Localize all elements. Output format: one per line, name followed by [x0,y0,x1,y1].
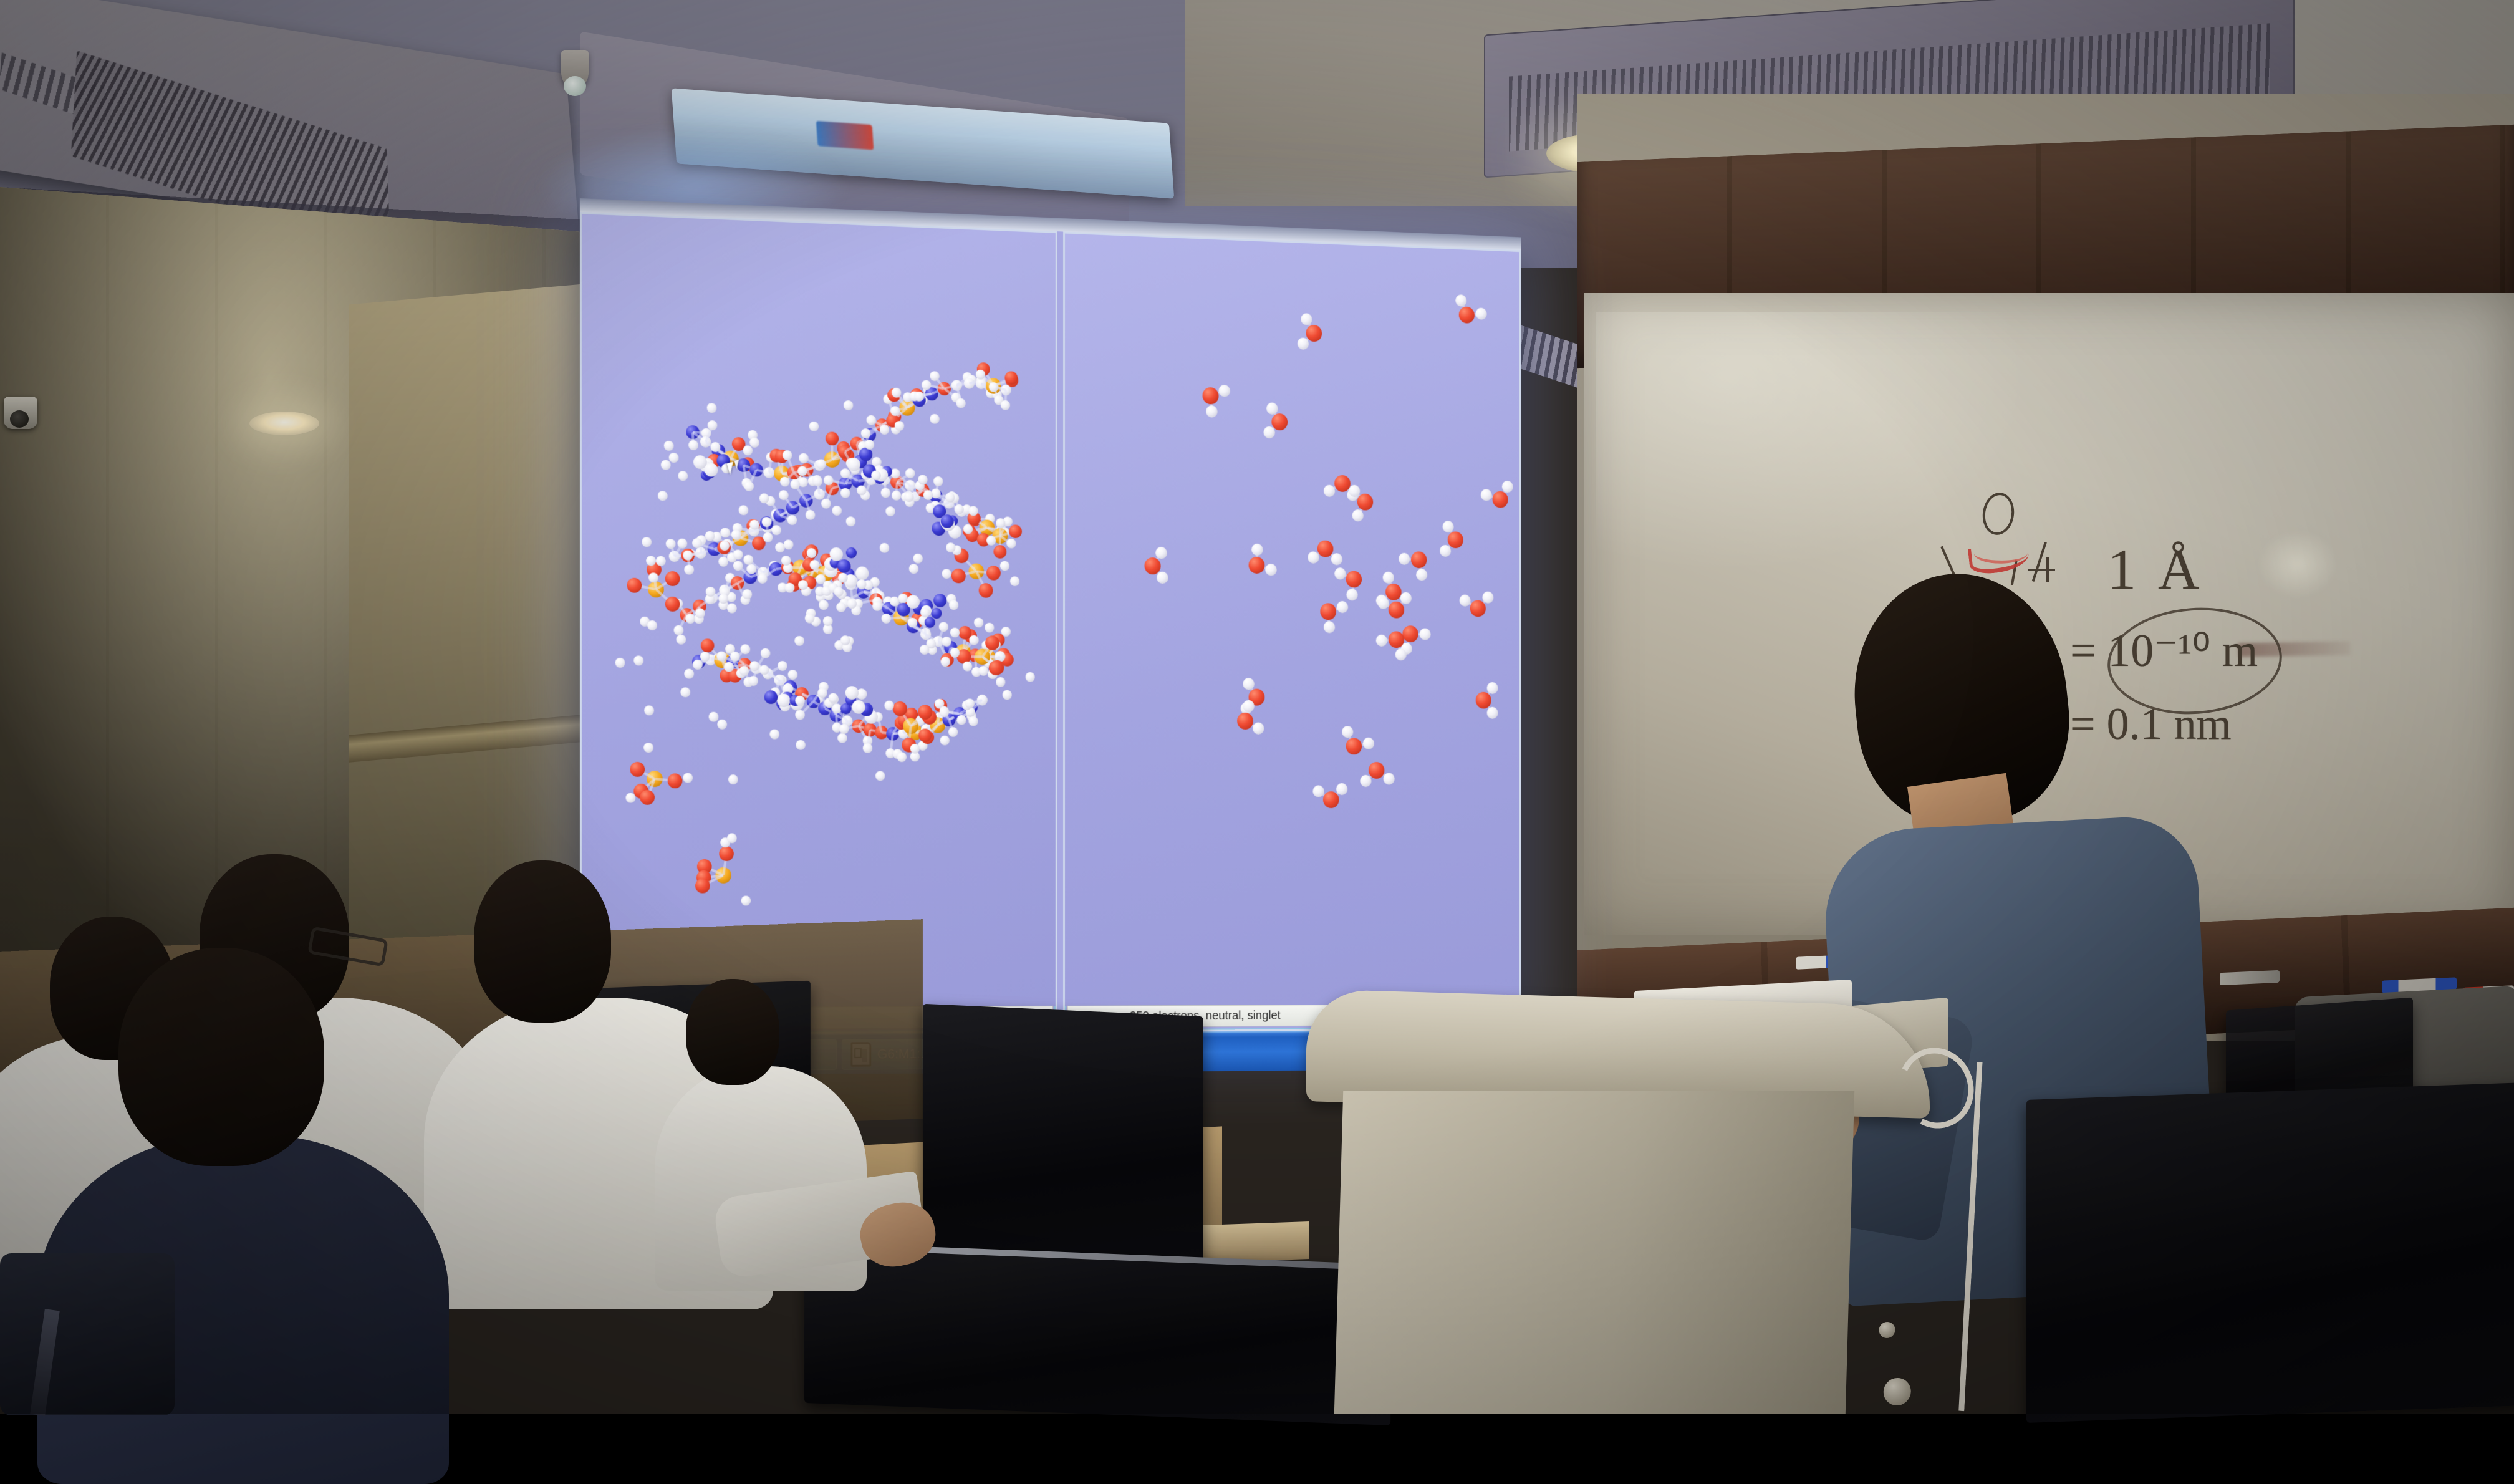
atom-H[interactable] [656,556,666,566]
atom-H[interactable] [741,644,751,654]
atom-H[interactable] [763,532,773,542]
atom-H[interactable] [795,696,805,706]
atom-H[interactable] [866,415,875,425]
atom-H[interactable] [1331,553,1342,566]
atom-H[interactable] [746,564,756,574]
atom-H[interactable] [847,457,860,471]
atom-H[interactable] [933,476,943,486]
atom-H[interactable] [1001,627,1011,637]
atom-H[interactable] [1263,426,1274,439]
monitor-2 [804,1242,1390,1425]
atom-H[interactable] [733,561,743,571]
atom-H[interactable] [784,540,794,550]
atom-H[interactable] [913,554,922,564]
atom-H[interactable] [965,698,975,708]
atom-H[interactable] [918,475,927,484]
atom-H[interactable] [817,688,827,698]
atom-H[interactable] [845,686,859,700]
atom-O[interactable] [695,878,710,893]
student-5-head [686,979,779,1085]
atom-H[interactable] [986,536,996,546]
atom-H[interactable] [807,548,817,558]
atom-H[interactable] [658,491,668,501]
atom-H[interactable] [787,515,797,525]
atom-O[interactable] [1271,413,1288,431]
atom-H[interactable] [743,445,753,455]
atom-H[interactable] [1308,551,1319,564]
whiteboard-equation-2: = 10⁻¹⁰ m [2070,624,2258,678]
atom-H[interactable] [779,490,789,500]
atom-O[interactable] [1470,600,1486,617]
atom-H[interactable] [685,614,695,624]
atom-H[interactable] [1383,571,1394,583]
podium [1306,998,1930,1414]
atom-H[interactable] [968,716,978,726]
atom-H[interactable] [946,542,955,552]
atom-H[interactable] [1265,564,1276,576]
atom-H[interactable] [955,504,964,514]
atom-H[interactable] [1399,553,1410,565]
atom-O[interactable] [1009,524,1022,538]
atom-H[interactable] [1475,307,1486,320]
atom-H[interactable] [727,604,737,614]
stick-figure-bar [2028,569,2055,571]
atom-H[interactable] [666,539,676,549]
atom-H[interactable] [856,566,869,580]
atom-H[interactable] [706,587,716,597]
atom-H[interactable] [741,896,751,906]
atom-H[interactable] [1336,783,1347,795]
stick-figure-bar-2 [2046,557,2049,582]
atom-H[interactable] [884,701,893,711]
atom-O[interactable] [1389,631,1404,648]
atom-H[interactable] [1395,648,1407,660]
atom-H[interactable] [744,481,754,491]
atom-H[interactable] [1361,775,1372,787]
atom-H[interactable] [974,618,983,628]
atom-H[interactable] [865,440,874,450]
atom-H[interactable] [678,539,688,549]
atom-H[interactable] [661,460,671,470]
atom-O[interactable] [1476,692,1491,709]
atom-H[interactable] [1420,629,1431,640]
atom-O[interactable] [1369,762,1384,779]
atom-H[interactable] [930,371,939,381]
atom-H[interactable] [799,453,809,463]
atom-H[interactable] [996,677,1005,687]
atom-O[interactable] [1448,531,1463,548]
atom-O[interactable] [668,773,683,788]
atom-O[interactable] [989,660,1003,675]
atom-H[interactable] [857,485,866,495]
atom-H[interactable] [1006,539,1016,549]
atom-H[interactable] [708,420,718,430]
atom-H[interactable] [838,572,847,582]
atom-H[interactable] [930,414,939,424]
atom-N[interactable] [846,547,857,559]
atom-H[interactable] [1487,706,1498,718]
atom-O[interactable] [1317,540,1334,557]
atom-O[interactable] [985,635,999,650]
atom-O[interactable] [627,577,642,592]
atom-H[interactable] [1206,405,1218,418]
sprinkler-head [561,50,589,87]
atom-H[interactable] [778,661,787,671]
atom-H[interactable] [705,463,718,477]
atom-H[interactable] [985,622,994,632]
atom-H[interactable] [733,549,743,559]
student-3-head [118,948,324,1166]
gaussview-window-right[interactable]: 75 atoms, 250 electrons, neutral, single… [1063,231,1521,1032]
atom-H[interactable] [758,574,768,584]
atom-O[interactable] [1320,603,1336,620]
atom-H[interactable] [738,505,748,515]
atom-H[interactable] [920,645,930,655]
atom-H[interactable] [1346,589,1357,600]
atom-H[interactable] [970,635,979,645]
atom-O[interactable] [719,847,734,862]
atom-H[interactable] [685,668,695,678]
monitor-4 [2026,1082,2514,1423]
atom-H[interactable] [1460,594,1471,606]
atom-H[interactable] [1219,385,1231,397]
atom-H[interactable] [1384,773,1395,784]
atom-H[interactable] [822,616,832,626]
atom-H[interactable] [626,793,636,803]
atom-H[interactable] [892,490,901,500]
atom-H[interactable] [1442,521,1453,532]
atom-H[interactable] [795,710,805,720]
atom-O[interactable] [1493,491,1508,508]
atom-H[interactable] [890,406,900,416]
atom-H[interactable] [905,468,915,478]
atom-H[interactable] [809,422,819,431]
atom-H[interactable] [1440,544,1451,556]
atom-H[interactable] [647,620,657,630]
atom-N[interactable] [859,448,872,461]
atom-O[interactable] [1385,584,1401,600]
atom-H[interactable] [907,595,920,609]
atom-H[interactable] [830,547,843,561]
atom-H[interactable] [863,743,872,753]
atom-H[interactable] [688,440,698,450]
atom-H[interactable] [1155,547,1167,559]
atom-H[interactable] [939,622,948,632]
atom-H[interactable] [743,589,753,599]
atom-H[interactable] [1417,569,1428,581]
atom-O[interactable] [1334,475,1351,492]
atom-H[interactable] [695,608,705,618]
atom-H[interactable] [1003,690,1012,700]
atom-H[interactable] [731,530,741,540]
atom-H[interactable] [783,450,792,460]
atom-H[interactable] [840,488,850,498]
atom-H[interactable] [749,438,759,448]
atom-H[interactable] [847,599,856,609]
atom-H[interactable] [920,607,930,617]
atom-O[interactable] [1306,325,1322,342]
screen-surface: nd Inquire Select Atom 1 75 atoms, 250 e… [580,212,1521,1035]
atom-H[interactable] [956,715,966,725]
atom-H[interactable] [1157,572,1168,584]
atom-H[interactable] [759,493,769,503]
atom-H[interactable] [772,525,782,535]
atom-H[interactable] [1298,337,1309,350]
atom-H[interactable] [805,613,815,623]
atom-H[interactable] [989,382,998,392]
atom-H[interactable] [910,743,920,753]
atom-H[interactable] [839,724,849,734]
atom-H[interactable] [692,538,702,548]
atom-O[interactable] [701,638,715,652]
atom-H[interactable] [720,528,730,537]
monitor-1 [923,1004,1203,1284]
atom-H[interactable] [718,594,728,604]
atom-H[interactable] [1342,726,1353,738]
atom-H[interactable] [845,516,855,526]
atom-H[interactable] [1025,672,1034,682]
atom-O[interactable] [986,566,1001,581]
atom-H[interactable] [1337,601,1348,613]
atom-H[interactable] [939,707,948,717]
atom-O[interactable] [1203,387,1219,405]
atom-H[interactable] [950,627,959,637]
lecture-hall-scene: 1 Å = 10⁻¹⁰ m = 0.1 nm nd Inquire Select… [0,0,2514,1414]
atom-H[interactable] [872,470,881,480]
atom-H[interactable] [693,660,703,670]
atom-H[interactable] [813,476,823,486]
atom-H[interactable] [897,752,906,762]
projection-screen: nd Inquire Select Atom 1 75 atoms, 250 e… [580,212,1521,1035]
atom-H[interactable] [816,460,826,470]
gaussview-window-left[interactable]: nd Inquire Select Atom 1 [580,212,1057,1035]
atom-H[interactable] [821,498,831,508]
atom-H[interactable] [788,670,798,680]
atom-H[interactable] [633,655,643,665]
atom-H[interactable] [1000,561,1009,571]
atom-O[interactable] [1323,791,1339,808]
atom-H[interactable] [963,661,972,671]
atom-H[interactable] [1001,400,1010,410]
atom-O[interactable] [825,431,838,445]
atom-H[interactable] [963,524,973,534]
atom-H[interactable] [762,517,772,527]
atom-H[interactable] [880,543,889,553]
student-4-head [474,860,611,1023]
atom-N[interactable] [925,617,935,628]
atom-H[interactable] [777,693,790,707]
atom-H[interactable] [886,506,895,516]
atom-H[interactable] [806,510,816,520]
atom-H[interactable] [674,625,684,635]
atom-O[interactable] [665,597,680,612]
atom-O[interactable] [1459,306,1475,324]
atom-H[interactable] [832,506,842,516]
atom-H[interactable] [904,492,913,502]
atom-H[interactable] [780,476,790,486]
atom-H[interactable] [915,391,924,401]
atom-N[interactable] [837,559,850,573]
atom-H[interactable] [881,488,890,498]
atom-H[interactable] [834,587,843,597]
atom-H[interactable] [784,583,794,593]
atom-H[interactable] [844,400,853,410]
atom-H[interactable] [727,833,737,843]
stick-figure-head [1980,491,2017,537]
backpack [0,1253,175,1415]
atom-H[interactable] [1313,785,1324,797]
atom-O[interactable] [979,583,993,598]
wall-downlight [249,412,319,435]
atom-H[interactable] [1502,481,1513,493]
atom-H[interactable] [1253,723,1264,735]
atom-H[interactable] [1010,576,1019,586]
atom-H[interactable] [1456,294,1467,307]
atom-H[interactable] [1251,544,1263,556]
atom-N[interactable] [934,594,947,607]
atom-H[interactable] [730,651,740,661]
atom-H[interactable] [615,658,625,668]
whiteboard-equation-3: = 0.1 nm [2070,698,2232,750]
atom-O[interactable] [640,790,655,805]
atom-H[interactable] [1334,567,1346,580]
atom-H[interactable] [642,537,652,547]
atom-H[interactable] [1483,592,1494,604]
atom-H[interactable] [677,635,686,645]
atom-H[interactable] [837,733,847,743]
atom-H[interactable] [683,773,693,783]
atom-H[interactable] [923,490,932,500]
atom-O[interactable] [951,568,966,583]
atom-H[interactable] [1243,700,1255,711]
atom-H[interactable] [949,600,958,610]
atom-O[interactable] [1144,557,1160,575]
atom-H[interactable] [680,688,690,698]
atom-H[interactable] [711,442,721,452]
atom-H[interactable] [798,580,808,590]
atom-H[interactable] [769,729,779,739]
molecule-canvas-left[interactable] [582,214,1056,1008]
atom-H[interactable] [717,651,727,661]
atom-H[interactable] [749,661,759,671]
atom-H[interactable] [873,601,882,611]
atom-O[interactable] [1402,625,1418,642]
atom-H[interactable] [1400,592,1411,604]
whiteboard-glare [2257,530,2338,599]
atom-H[interactable] [855,702,865,712]
atom-H[interactable] [720,541,730,551]
atom-H[interactable] [664,441,674,451]
podium-body [1334,1091,1854,1414]
atom-H[interactable] [709,712,719,722]
atom-O[interactable] [630,762,645,777]
atom-H[interactable] [956,398,966,408]
atom-N[interactable] [940,514,953,528]
atom-H[interactable] [644,743,654,753]
atom-H[interactable] [1266,402,1278,415]
atom-H[interactable] [881,614,890,624]
atom-N[interactable] [764,690,778,704]
atom-H[interactable] [794,636,804,646]
atom-H[interactable] [1243,678,1254,690]
atom-H[interactable] [875,771,885,781]
atom-H[interactable] [948,727,958,737]
atom-H[interactable] [836,602,845,612]
atom-H[interactable] [1362,738,1374,749]
atom-O[interactable] [1346,738,1362,754]
atom-H[interactable] [894,421,903,431]
atom-H[interactable] [644,705,654,715]
atom-H[interactable] [1377,597,1389,609]
atom-H[interactable] [910,752,920,762]
atom-O[interactable] [665,571,680,586]
atom-H[interactable] [719,557,729,567]
atom-H[interactable] [1481,489,1492,501]
atom-H[interactable] [996,518,1005,528]
atom-H[interactable] [1301,313,1312,325]
atom-H[interactable] [796,740,806,750]
atom-O[interactable] [1357,493,1373,510]
atom-H[interactable] [909,564,918,574]
security-camera-icon [4,397,37,429]
atom-H[interactable] [1324,484,1335,497]
atom-O[interactable] [1411,551,1427,568]
atom-H[interactable] [706,403,716,413]
atom-O[interactable] [1249,557,1265,574]
molecule-canvas-right[interactable] [1065,234,1519,1006]
atom-H[interactable] [1324,621,1335,633]
atom-O[interactable] [1237,713,1253,730]
atom-H[interactable] [669,453,679,463]
atom-H[interactable] [890,597,899,607]
atom-H[interactable] [761,648,771,658]
atom-H[interactable] [819,600,829,610]
atom-O[interactable] [1389,601,1404,618]
atom-H[interactable] [1487,682,1498,694]
atom-O[interactable] [1346,571,1362,587]
atom-H[interactable] [678,471,688,481]
atom-H[interactable] [1376,635,1387,647]
atom-H[interactable] [940,735,950,745]
atom-H[interactable] [728,775,738,785]
atom-H[interactable] [739,666,749,676]
atom-H[interactable] [648,572,658,582]
power-cable [1877,1058,1982,1412]
atom-H[interactable] [685,564,695,574]
atom-H[interactable] [880,425,889,435]
atom-O[interactable] [993,545,1006,559]
atom-H[interactable] [1352,509,1364,522]
atom-H[interactable] [717,720,727,730]
atom-H[interactable] [942,569,951,579]
whiteboard-equation-1: 1 Å [2107,536,2203,602]
atom-H[interactable] [748,676,758,686]
atom-H[interactable] [824,475,833,485]
